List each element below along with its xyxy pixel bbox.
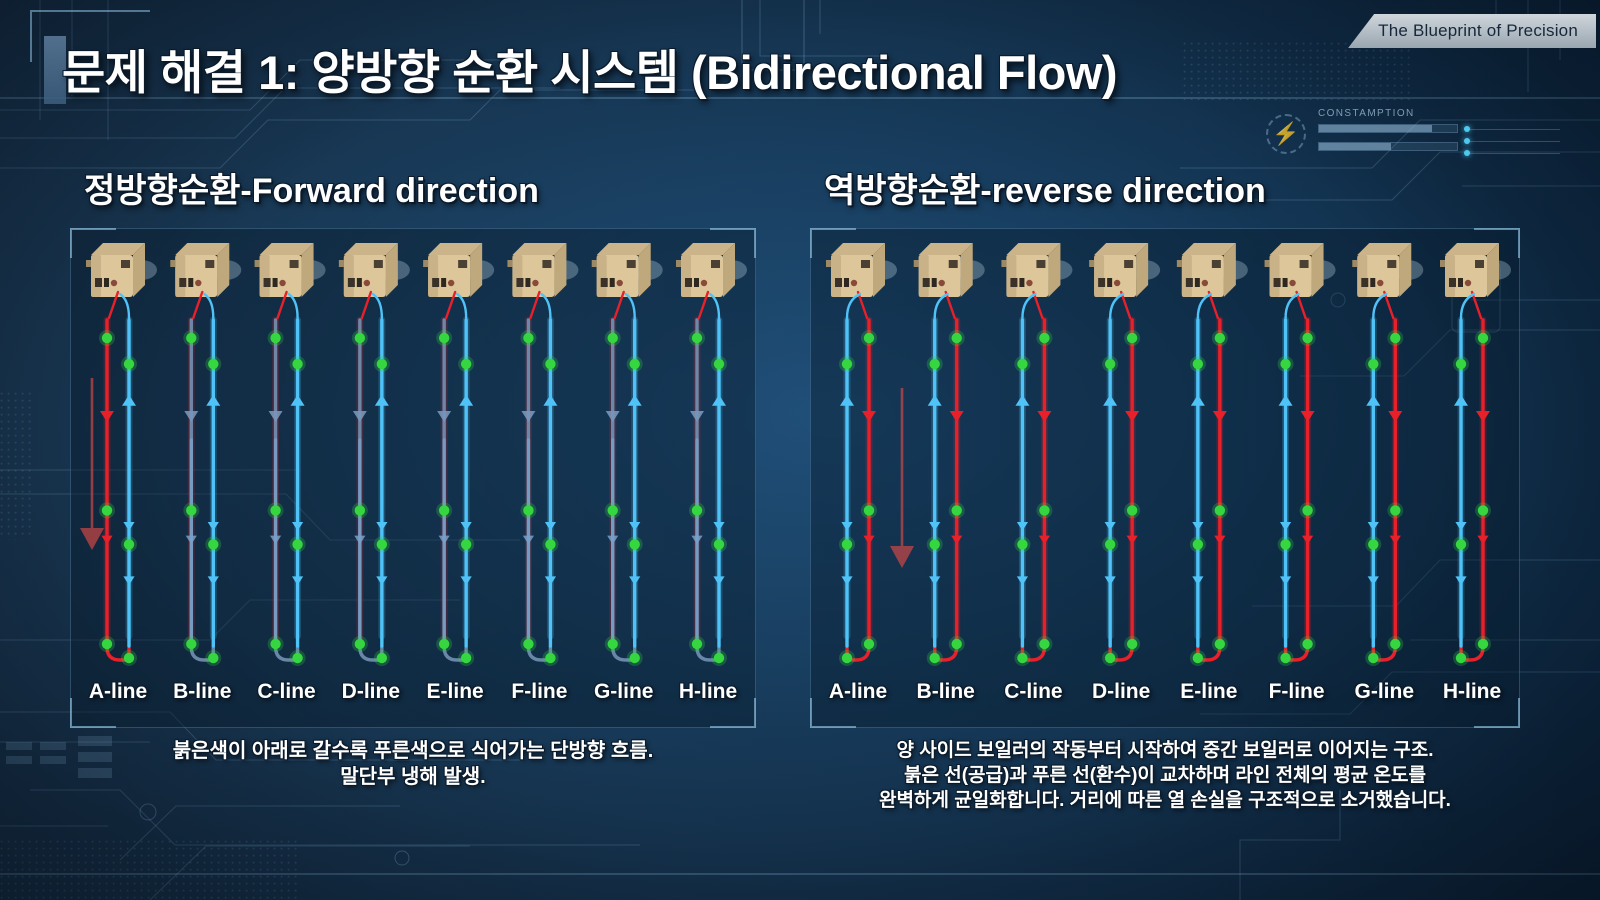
sensor-node [1390,639,1400,649]
consumption-bar-2 [1318,142,1458,151]
sensor-node [1478,333,1488,343]
sensor-node [1390,333,1400,343]
line-label-c-line: C-line [257,680,315,704]
sensor-node [1368,539,1378,549]
sensor-node [1039,505,1049,515]
sensor-node [930,359,940,369]
sensor-node [124,653,134,663]
sensor-node [208,359,218,369]
sensor-node [1280,539,1290,549]
flow-line-group [436,292,474,666]
sensor-node [1193,359,1203,369]
sensor-node [1127,333,1137,343]
flow-line-group [183,292,221,666]
flow-line-group [605,292,643,666]
sensor-node [208,539,218,549]
sensor-node [1215,333,1225,343]
flow-line-group [1102,292,1140,666]
line-label-d-line: D-line [1092,680,1150,704]
sensor-node [692,505,702,515]
consumption-widget: ⚡ CONSTAMPTION [1266,108,1496,164]
flow-line-group [839,292,877,666]
sensor-node [1302,639,1312,649]
line-label-a-line: A-line [89,680,147,704]
caption-reverse-line-1: 양 사이드 보일러의 작동부터 시작하여 중간 보일러로 이어지는 구조. [800,738,1530,763]
bolt-glyph: ⚡ [1272,123,1299,145]
line-label-h-line: H-line [1443,680,1501,704]
sensor-node [292,653,302,663]
boiler-unit-icon [339,243,410,297]
page-title: 문제 해결 1: 양방향 순환 시스템 (Bidirectional Flow) [62,34,1117,103]
sensor-node [355,333,365,343]
sensor-node [930,653,940,663]
sensor-node [864,505,874,515]
sensor-node [1280,359,1290,369]
sensor-node [1456,539,1466,549]
sensor-node [608,505,618,515]
sensor-node [377,539,387,549]
sensor-node [461,359,471,369]
boiler-unit-icon [592,243,663,297]
sensor-node [1302,333,1312,343]
sensor-node [292,359,302,369]
sensor-node [1039,639,1049,649]
sensor-node [1478,639,1488,649]
sensor-node [1456,653,1466,663]
flow-line-group [352,292,390,666]
sensor-node [1039,333,1049,343]
sensor-node [1193,653,1203,663]
flow-line-group [99,292,137,666]
boiler-unit-icon [255,243,326,297]
flow-line-group [927,292,965,666]
boiler-unit-icon [1352,243,1423,297]
sensor-node [1280,653,1290,663]
sensor-node [439,505,449,515]
line-label-g-line: G-line [1355,680,1415,704]
lightning-bolt-icon: ⚡ [1266,114,1306,154]
sensor-node [692,333,702,343]
sensor-node [952,333,962,343]
flow-line-group [1278,292,1316,666]
sensor-node [270,505,280,515]
direction-indicator-arrow [80,378,104,550]
boiler-unit-icon [826,243,897,297]
line-label-h-line: H-line [679,680,737,704]
sensor-node [1215,639,1225,649]
sensor-node [208,653,218,663]
sensor-node [692,639,702,649]
boiler-unit-icon [676,243,747,297]
flow-diagram-forward [70,228,756,728]
flow-line-group [268,292,306,666]
sensor-node [1127,505,1137,515]
sensor-node [864,333,874,343]
caption-forward: 붉은색이 아래로 갈수록 푸른색으로 식어가는 단방향 흐름.말단부 냉해 발생… [70,738,756,791]
sensor-node [1105,653,1115,663]
diagram-panel-forward: A-lineB-lineC-lineD-lineE-lineF-lineG-li… [70,228,756,728]
sensor-node [124,359,134,369]
flow-line-group [1365,292,1403,666]
sensor-node [377,359,387,369]
consumption-label: CONSTAMPTION [1318,108,1415,119]
sensor-node [545,653,555,663]
sensor-node [124,539,134,549]
sensor-node [377,653,387,663]
sensor-node [102,505,112,515]
consumption-bar-1 [1318,124,1458,133]
flow-diagram-reverse [810,228,1520,728]
slide-canvas: 문제 해결 1: 양방향 순환 시스템 (Bidirectional Flow)… [0,0,1600,900]
sensor-node [608,333,618,343]
boiler-unit-icon [1440,243,1511,297]
sensor-node [1105,359,1115,369]
sensor-node [523,505,533,515]
sensor-node [630,359,640,369]
sensor-node [1368,653,1378,663]
heading-forward: 정방향순환-Forward direction [84,163,539,212]
sensor-node [355,639,365,649]
boiler-unit-icon [170,243,241,297]
sensor-node [102,333,112,343]
line-label-f-line: F-line [511,680,567,704]
sensor-node [102,639,112,649]
sensor-node [270,333,280,343]
sensor-node [186,505,196,515]
slide-header: 문제 해결 1: 양방향 순환 시스템 (Bidirectional Flow)… [0,0,1600,150]
boiler-unit-icon [86,243,157,297]
sensor-node [1478,505,1488,515]
sensor-node [714,359,724,369]
boiler-unit-icon [1089,243,1160,297]
sensor-node [439,639,449,649]
heading-reverse: 역방향순환-reverse direction [824,163,1266,212]
flow-line-group [520,292,558,666]
badge-label: The Blueprint of Precision [1378,21,1578,41]
flow-line-group [1014,292,1052,666]
line-label-e-line: E-line [1180,680,1237,704]
sensor-node [1390,505,1400,515]
line-label-d-line: D-line [342,680,400,704]
sensor-node [714,653,724,663]
line-label-c-line: C-line [1004,680,1062,704]
widget-rule-3 [1470,153,1560,154]
sensor-node [864,639,874,649]
caption-reverse-line-3: 완벽하게 균일화합니다. 거리에 따른 열 손실을 구조적으로 소거했습니다. [800,788,1530,813]
sensor-node [842,539,852,549]
sensor-node [608,639,618,649]
line-label-f-line: F-line [1269,680,1325,704]
widget-rule-1 [1470,129,1560,130]
sensor-node [952,505,962,515]
sensor-node [1017,539,1027,549]
sensor-node [439,333,449,343]
flow-line-group [1190,292,1228,666]
caption-reverse-line-2: 붉은 선(공급)과 푸른 선(환수)이 교차하며 라인 전체의 평균 온도를 [800,763,1530,788]
sensor-node [186,639,196,649]
sensor-node [545,359,555,369]
direction-indicator-arrow [890,388,914,568]
sensor-node [1302,505,1312,515]
boiler-unit-icon [1265,243,1336,297]
widget-rule-2 [1470,141,1560,142]
sensor-node [630,539,640,549]
sensor-node [842,359,852,369]
line-label-e-line: E-line [427,680,484,704]
sensor-node [1127,639,1137,649]
boiler-unit-icon [1177,243,1248,297]
sensor-node [523,333,533,343]
line-label-b-line: B-line [917,680,975,704]
diagram-panel-reverse: A-lineB-lineC-lineD-lineE-lineF-lineG-li… [810,228,1520,728]
sensor-node [355,505,365,515]
boiler-unit-icon [507,243,578,297]
sensor-node [545,539,555,549]
blueprint-badge: The Blueprint of Precision [1348,14,1596,48]
sensor-node [1456,359,1466,369]
sensor-node [461,653,471,663]
caption-forward-line-1: 붉은색이 아래로 갈수록 푸른색으로 식어가는 단방향 흐름. [70,738,756,764]
sensor-node [461,539,471,549]
boiler-unit-icon [914,243,985,297]
sensor-node [1017,359,1027,369]
sensor-node [630,653,640,663]
line-label-g-line: G-line [594,680,654,704]
sensor-node [1017,653,1027,663]
sensor-node [842,653,852,663]
boiler-unit-icon [1001,243,1072,297]
sensor-node [952,639,962,649]
sensor-node [714,539,724,549]
sensor-node [523,639,533,649]
sensor-node [1193,539,1203,549]
sensor-node [1215,505,1225,515]
sensor-node [930,539,940,549]
boiler-unit-icon [423,243,494,297]
flow-line-group [689,292,727,666]
line-label-a-line: A-line [829,680,887,704]
caption-forward-line-2: 말단부 냉해 발생. [70,764,756,790]
sensor-node [1105,539,1115,549]
sensor-node [1368,359,1378,369]
sensor-node [270,639,280,649]
sensor-node [186,333,196,343]
caption-reverse: 양 사이드 보일러의 작동부터 시작하여 중간 보일러로 이어지는 구조.붉은 … [800,738,1530,813]
line-label-b-line: B-line [173,680,231,704]
flow-line-group [1453,292,1491,666]
sensor-node [292,539,302,549]
